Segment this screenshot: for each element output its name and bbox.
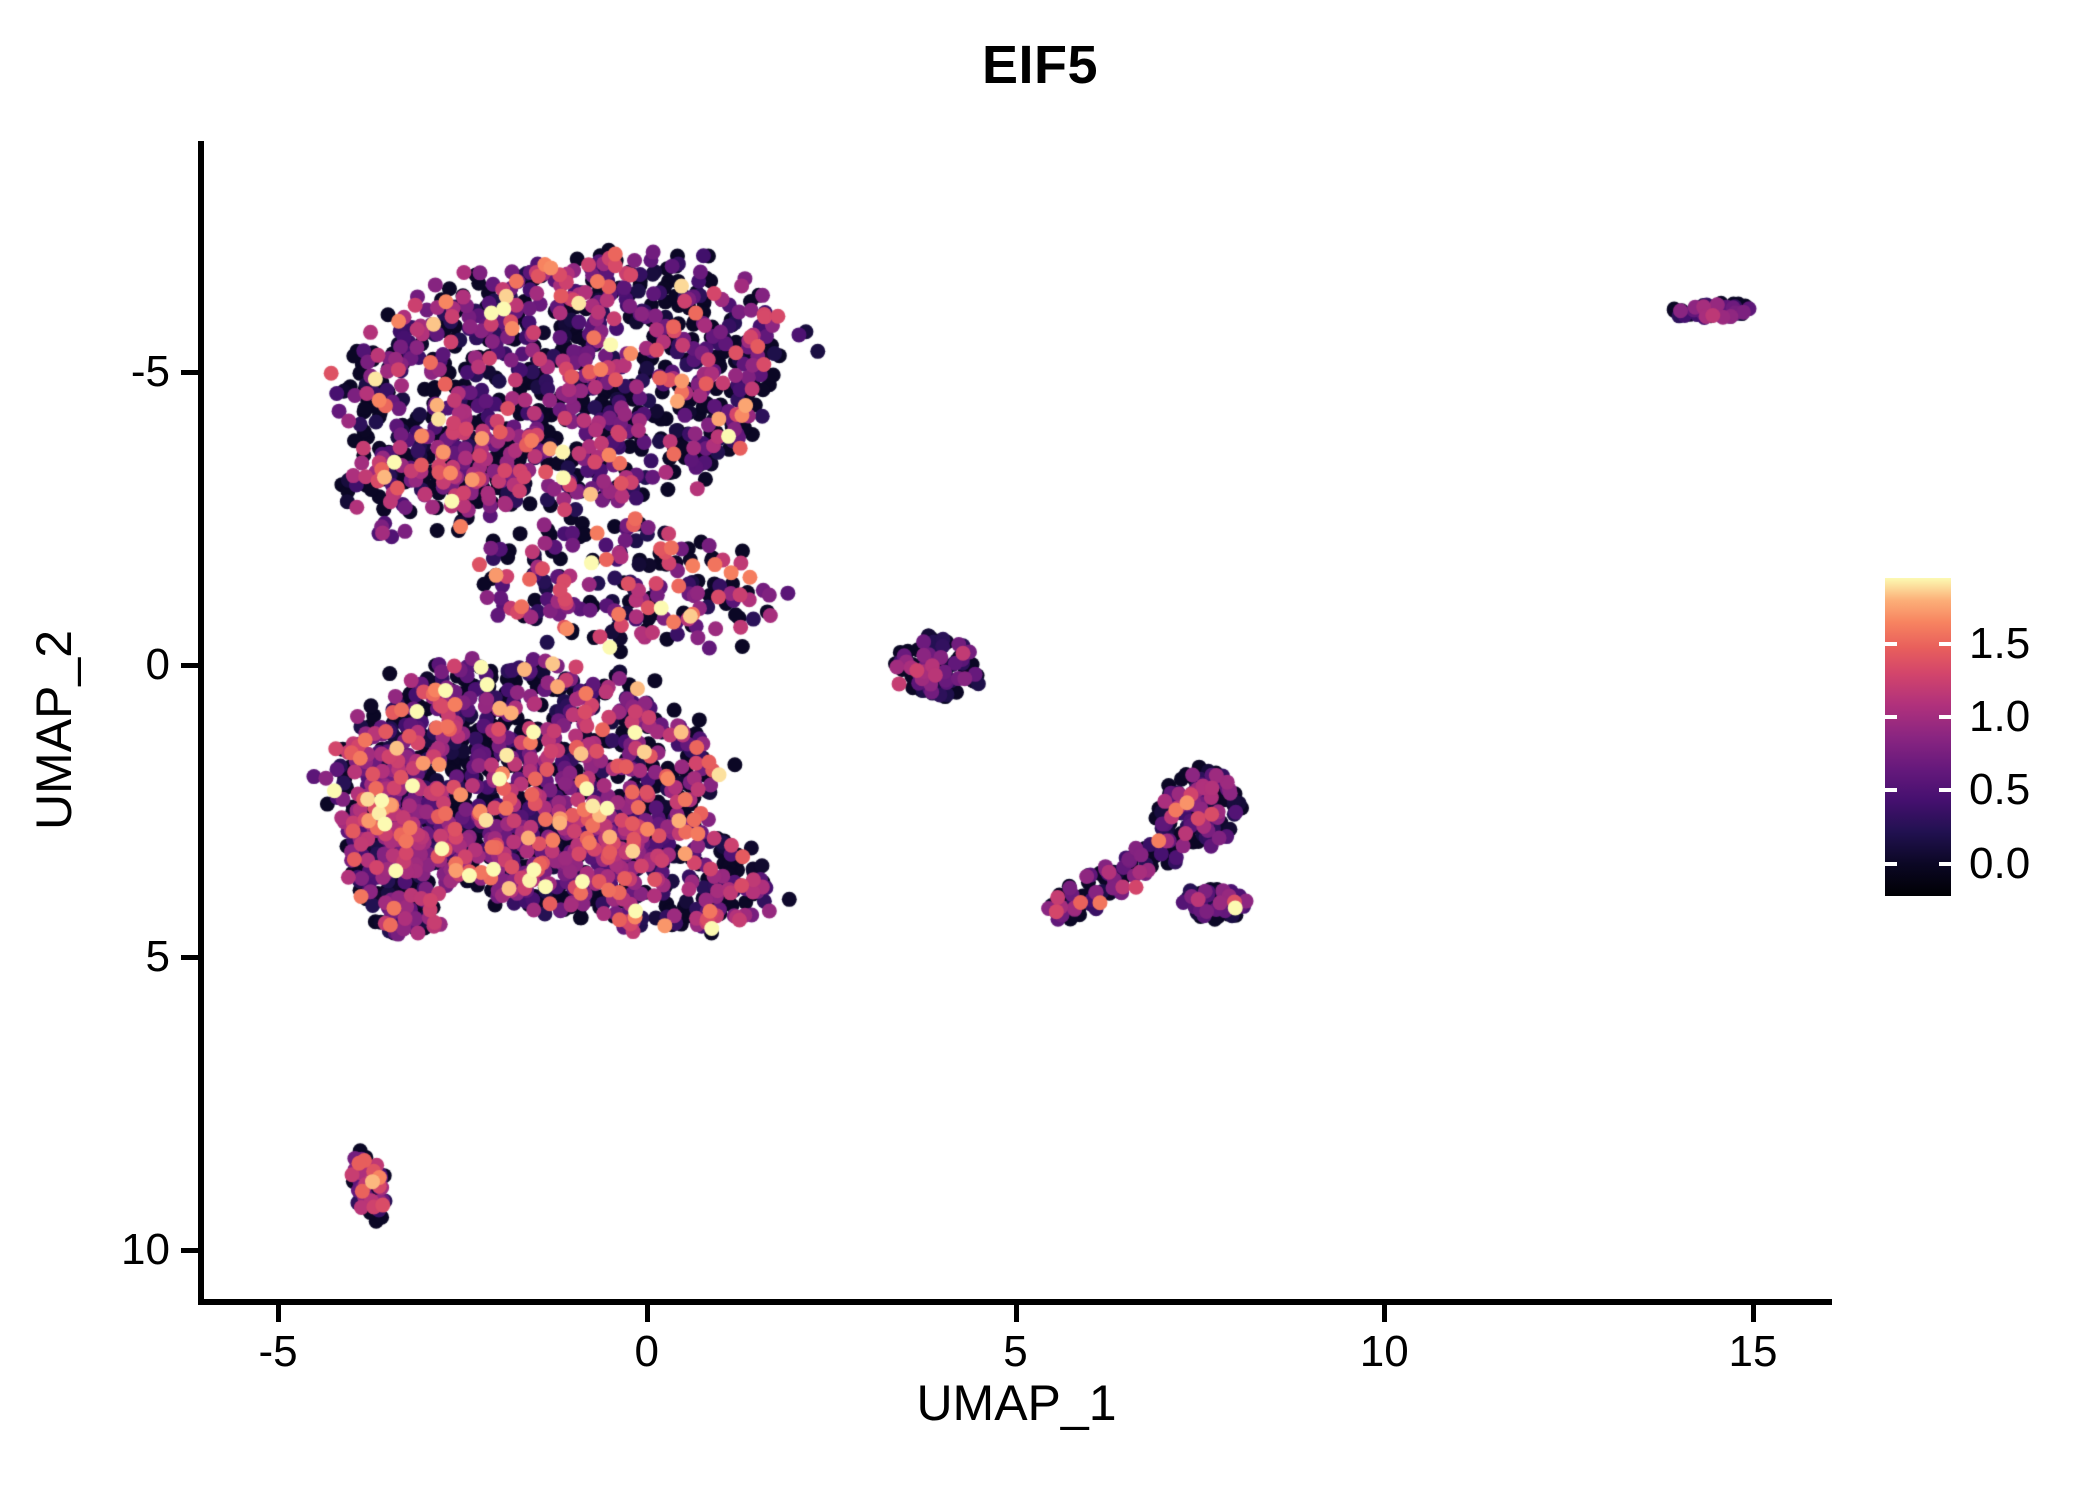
x-tick-mark [276, 1305, 281, 1322]
colorbar-tick-label: 1.0 [1969, 695, 2030, 739]
x-tick-mark [1751, 1305, 1756, 1322]
x-tick-label: 10 [1284, 1330, 1484, 1374]
x-tick-label: 0 [547, 1330, 747, 1374]
colorbar-gradient [1885, 578, 1951, 896]
y-tick-mark [181, 663, 198, 668]
x-tick-mark [1382, 1305, 1387, 1322]
x-tick-label: 5 [916, 1330, 1116, 1374]
x-tick-mark [1014, 1305, 1019, 1322]
x-tick-label: -5 [178, 1330, 378, 1374]
scatter-plot-panel[interactable] [203, 141, 1830, 1302]
y-tick-label: 10 [0, 1228, 170, 1272]
y-tick-label: -5 [0, 350, 170, 394]
colorbar-tick-label: 1.5 [1969, 622, 2030, 666]
colorbar-tick-mark [1885, 862, 1897, 866]
y-tick-mark [181, 1248, 198, 1253]
colorbar-tick-label: 0.5 [1969, 768, 2030, 812]
y-tick-mark [181, 955, 198, 960]
y-axis-line [198, 141, 204, 1305]
y-tick-label: 5 [0, 935, 170, 979]
y-tick-mark [181, 370, 198, 375]
colorbar-tick-mark [1939, 715, 1951, 719]
colorbar-tick-mark [1885, 715, 1897, 719]
colorbar-tick-mark [1939, 788, 1951, 792]
colorbar-tick-mark [1939, 862, 1951, 866]
scatter-points-canvas[interactable] [203, 141, 1830, 1302]
page-title: EIF5 [0, 38, 2080, 92]
color-legend[interactable]: 1.51.00.50.0 [1885, 578, 2085, 896]
colorbar-tick-mark [1885, 788, 1897, 792]
x-axis-title: UMAP_1 [203, 1378, 1830, 1428]
colorbar-tick-mark [1885, 642, 1897, 646]
x-tick-mark [645, 1305, 650, 1322]
y-axis-title: UMAP_2 [29, 430, 79, 1030]
colorbar-tick-mark [1939, 642, 1951, 646]
colorbar-tick-label: 0.0 [1969, 842, 2030, 886]
feature-plot-root: EIF5 1050-5 -5051015 UMAP_1 UMAP_2 1.51.… [0, 0, 2100, 1500]
x-tick-label: 15 [1653, 1330, 1853, 1374]
